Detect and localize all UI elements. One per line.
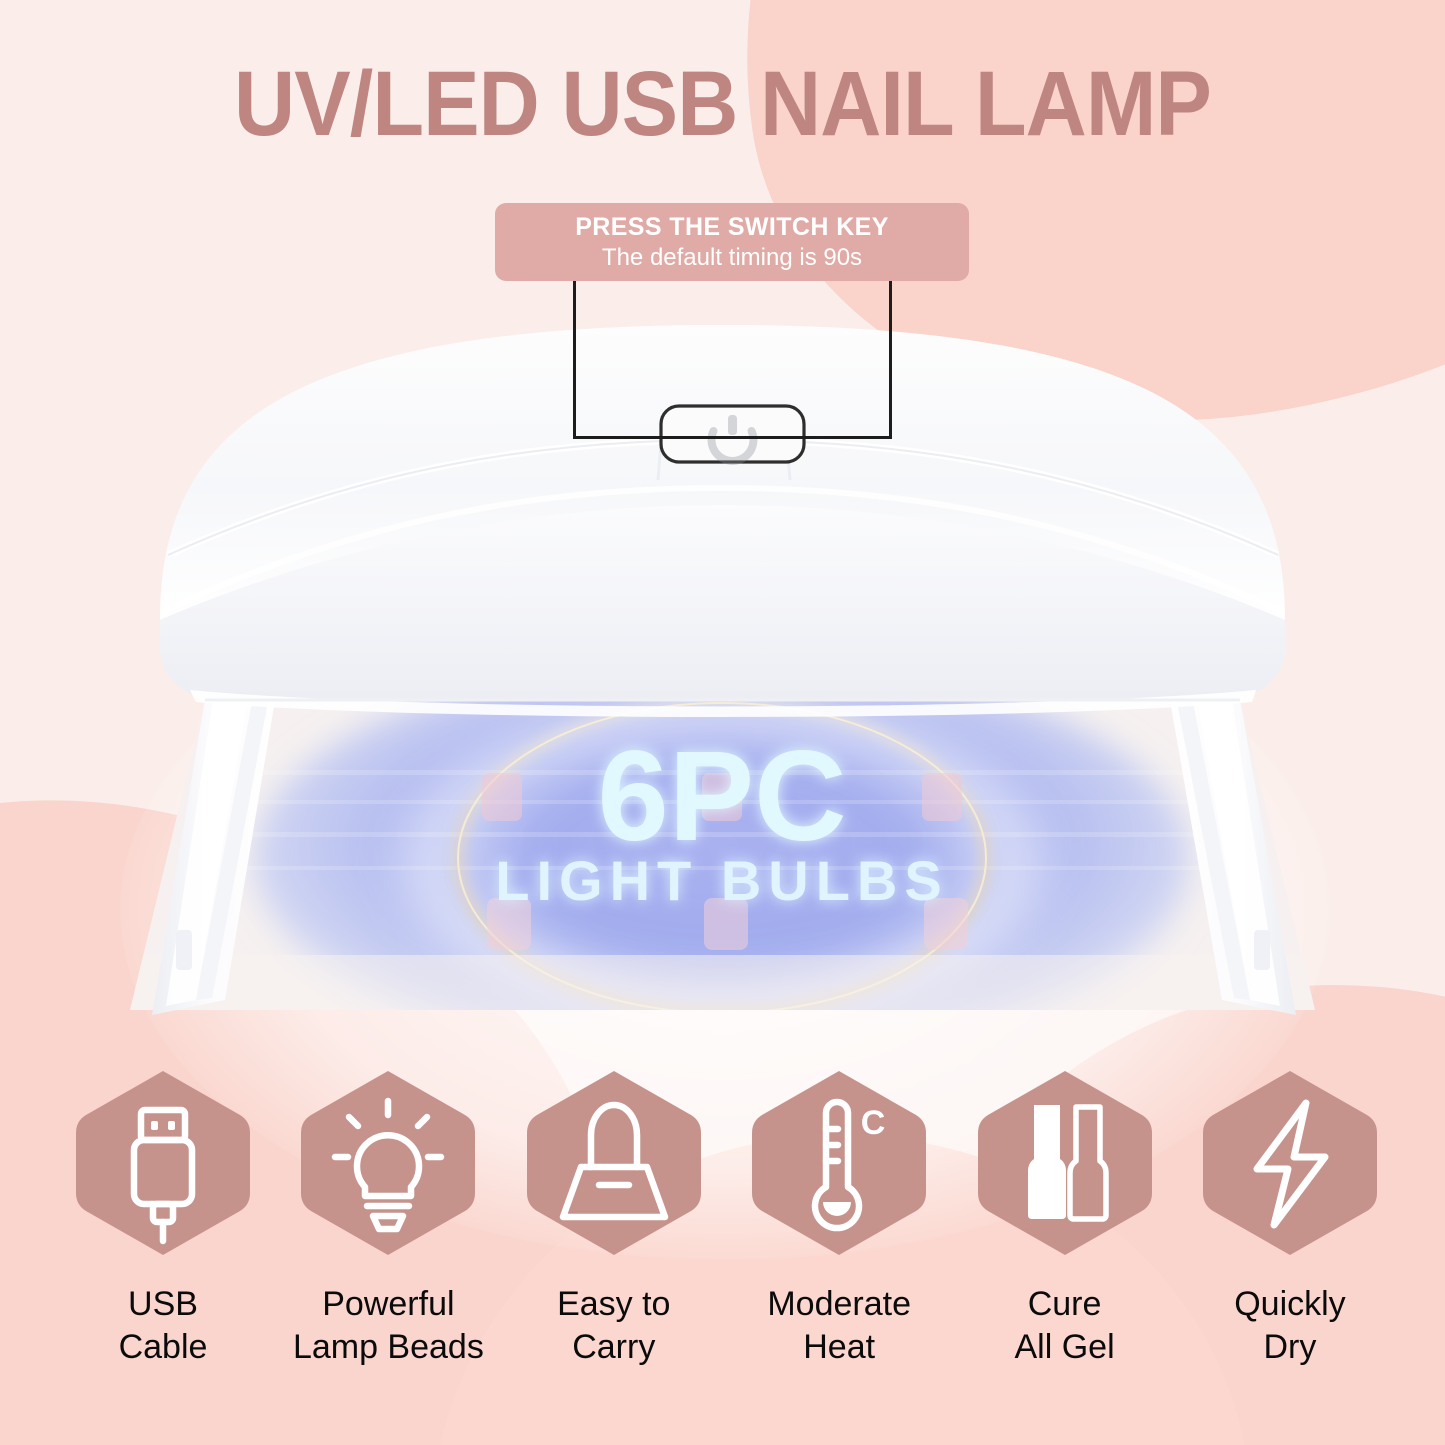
feature-item-cure-all-gel[interactable]: Cure All Gel	[956, 1065, 1174, 1369]
feature-item-easy-carry[interactable]: Easy to Carry	[505, 1065, 723, 1369]
leader-line-bar	[573, 436, 892, 439]
hexagon-badge: C	[744, 1065, 934, 1261]
thermometer-icon: C	[744, 1065, 934, 1261]
lamp-top-shell	[160, 325, 1285, 717]
leader-line-left	[573, 281, 576, 439]
hexagon-badge	[519, 1065, 709, 1261]
hexagon-badge	[293, 1065, 483, 1261]
hexagon-badge	[1195, 1065, 1385, 1261]
feature-label: USB Cable	[54, 1283, 272, 1369]
lightning-bolt-icon	[1195, 1065, 1385, 1261]
feature-item-quickly-dry[interactable]: Quickly Dry	[1181, 1065, 1399, 1369]
feature-item-lamp-beads[interactable]: Powerful Lamp Beads	[279, 1065, 497, 1369]
feature-label: Quickly Dry	[1181, 1283, 1399, 1369]
product-infographic: UV/LED USB NAIL LAMP	[0, 0, 1445, 1445]
svg-text:C: C	[861, 1104, 886, 1142]
feature-item-usb-cable[interactable]: USB Cable	[54, 1065, 272, 1369]
switch-key-callout: PRESS THE SWITCH KEY The default timing …	[495, 203, 969, 281]
leader-line-right	[889, 281, 892, 439]
feature-row: USB Cable Powe	[40, 1065, 1405, 1369]
feature-label: Moderate Heat	[730, 1283, 948, 1369]
nail-polish-icon	[970, 1065, 1160, 1261]
usb-cable-icon	[68, 1065, 258, 1261]
handbag-icon	[519, 1065, 709, 1261]
callout-title: PRESS THE SWITCH KEY	[495, 212, 969, 243]
feature-label: Easy to Carry	[505, 1283, 723, 1369]
power-button[interactable]	[661, 406, 804, 462]
light-bulb-icon	[293, 1065, 483, 1261]
glow-headline: 6PC	[598, 725, 847, 868]
feature-label: Cure All Gel	[956, 1283, 1174, 1369]
hexagon-badge	[970, 1065, 1160, 1261]
glow-subline: LIGHT BULBS	[495, 849, 948, 912]
feature-label: Powerful Lamp Beads	[279, 1283, 497, 1369]
feature-item-moderate-heat[interactable]: C Moderate Heat	[730, 1065, 948, 1369]
callout-subtitle: The default timing is 90s	[495, 243, 969, 272]
hexagon-badge	[68, 1065, 258, 1261]
